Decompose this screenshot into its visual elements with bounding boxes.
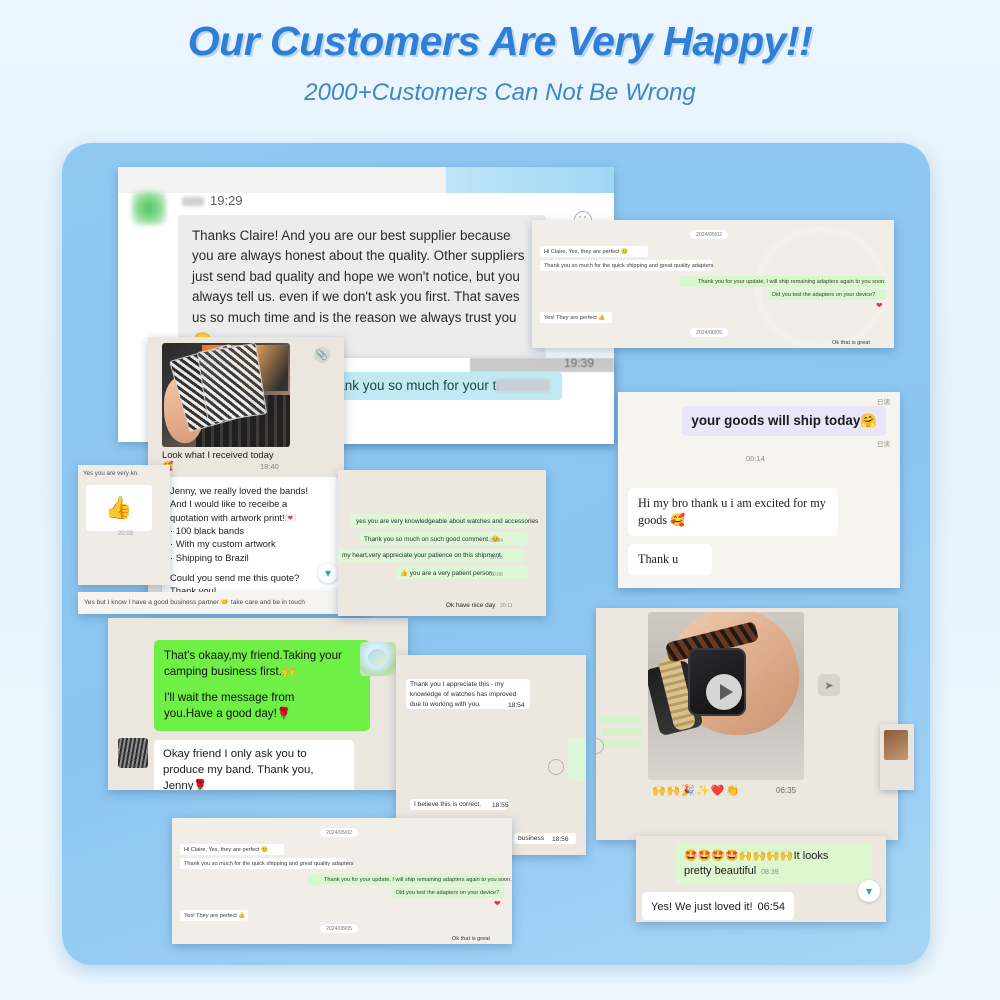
caption-time: 18:40 (260, 462, 279, 471)
testimonial-card-video[interactable]: ➤ 🙌🙌🎉✨❤️👏 06:35 (596, 608, 898, 840)
know-time: 20:05 (490, 555, 503, 561)
dup-line-0: Hi Claire, Yes, they are perfect 😊 (544, 249, 628, 255)
dup-line-0: Hi Claire, Yes, they are perfect 😊 (184, 847, 268, 853)
band-package-2 (197, 343, 268, 423)
dup-line-4: Yes! They are perfect 👍 (184, 913, 245, 919)
loved-it-time: 06:54 (758, 901, 786, 913)
thumbs-up-icon: 👍 (86, 485, 152, 531)
reply-2-text: Thank u (638, 551, 702, 568)
testimonial-card-beautiful[interactable]: 🤩🤩🤩🤩🙌🙌🙌🙌It looks pretty beautiful08:39 Y… (636, 836, 886, 922)
testimonial-card-goods[interactable]: 已读 your goods will ship today🤗 已读 00:14 … (618, 392, 900, 588)
dup-line-3: Did you test the adapters on your device… (396, 890, 499, 896)
side-message-bits (602, 716, 642, 768)
chat-date: 2024/05/02 (690, 230, 728, 239)
white-line-1: Okay friend I only ask you to (163, 747, 345, 763)
message-text: Thanks Claire! And you are our best supp… (192, 226, 532, 328)
thumbnail-image (884, 730, 908, 760)
forward-arrow-icon[interactable]: ➤ (818, 674, 840, 696)
testimonial-card-thumbsup[interactable]: Yes you are very kn 👍 20:03 (78, 465, 170, 585)
bullet-item: · 100 black bands (170, 524, 330, 537)
watermark-circle (754, 226, 888, 348)
rose-emoji: 🌹 (193, 780, 207, 790)
reply-1-text: Hi my bro thank u i am excited for my go… (638, 496, 826, 527)
loved-it-text: Yes! We just loved it! (651, 901, 753, 913)
improved-time: 18:54 (508, 702, 525, 709)
ship-today-text: your goods will ship today (691, 413, 860, 428)
photo-caption: Look what I received today (162, 449, 290, 460)
improved-line-1: knowledge of watches has improved (410, 691, 516, 698)
beautiful-text-2: pretty beautiful (684, 865, 756, 877)
chevron-down-icon[interactable]: ▾ (318, 563, 338, 583)
trust-bubble: thank you so much for your trust (316, 372, 562, 400)
card-top-strip: 19:39 (470, 358, 614, 372)
testimonial-card-edge[interactable] (880, 724, 914, 790)
redacted-block (496, 379, 550, 392)
improved-line-5: business (518, 835, 544, 842)
testimonial-card-adapters-bottom[interactable]: 2024/05/02 Hi Claire, Yes, they are perf… (172, 818, 512, 944)
beautiful-time: 08:39 (761, 869, 779, 876)
dup-line-3: Did you test the adapters on your device… (772, 292, 875, 298)
know-line-3: 👍 you are a very patient person. (400, 569, 494, 577)
dup-line-5: Ok that is great (452, 936, 490, 942)
dup-line-2: Thank you for your update, I will ship r… (324, 877, 512, 883)
quote-line-2: And I would like to receibe a (170, 497, 330, 510)
dup-line-1: Thank you so much for the quick shipping… (184, 861, 353, 867)
reply-bubble-2: Thank u (628, 544, 712, 575)
sender-name-redacted (182, 197, 204, 206)
header-blue-strip (446, 167, 614, 193)
bullet-item: · Shipping to Brazil (170, 551, 330, 564)
testimonial-card-photo[interactable]: 📎 Look what I received today 🥰 18:40 Jen… (148, 337, 344, 605)
promo-page: Our Customers Are Very Happy!! 2000+Cust… (0, 0, 1000, 1000)
quote-line-1: Jenny, we really loved the bands! (170, 484, 330, 497)
green-emoji: 🙌 (282, 665, 296, 678)
thumb-time: 20:03 (118, 531, 133, 537)
quote-request-bubble: Jenny, we really loved the bands! And I … (162, 477, 338, 605)
video-emoji-row: 🙌🙌🎉✨❤️👏 (652, 784, 740, 797)
message-time: 19:29 (210, 193, 243, 208)
dup-line-5: Ok that is great (832, 340, 870, 346)
dup-line-2: Thank you for your update, I will ship r… (698, 279, 886, 285)
white-line-3: Jenny🌹 (163, 779, 345, 790)
reply-bubble-1: Hi my bro thank u i am excited for my go… (628, 488, 838, 536)
improved-time: 18:55 (492, 802, 509, 809)
white-message-bubble: Okay friend I only ask you to produce my… (154, 740, 354, 790)
video-time: 06:35 (776, 786, 796, 795)
testimonial-card-adapters-top[interactable]: 2024/05/02 Hi Claire, Yes, they are perf… (532, 220, 894, 348)
know-time: 20:06 (490, 572, 503, 578)
page-header: Our Customers Are Very Happy!! 2000+Cust… (0, 0, 1000, 107)
rose-emoji: 🌹 (277, 707, 291, 720)
testimonial-card-green[interactable]: That's okaay,my friend.Taking your campi… (108, 618, 408, 790)
trust-text: thank you so much for your trust (326, 378, 519, 393)
know-line-4: Ok have nice day (446, 602, 495, 609)
know-time: 20:11 (500, 603, 513, 609)
avatar (132, 191, 166, 225)
white-line-2: produce my band. Thank you, (163, 763, 345, 779)
green-line-4: you.Have a good day!🌹 (164, 706, 360, 722)
page-subtitle: 2000+Customers Can Not Be Wrong (0, 79, 1000, 107)
celebration-emojis: 🤩🤩🤩🤩🙌🙌🙌🙌 (684, 850, 794, 862)
watch-video-thumbnail[interactable] (648, 612, 804, 780)
chevron-down-icon[interactable]: ▾ (858, 880, 880, 902)
bullet-item: · With my custom artwork (170, 537, 330, 550)
hug-emoji: 🤗 (860, 413, 877, 428)
chat-header-bar (118, 167, 614, 193)
play-button-icon[interactable] (706, 674, 742, 710)
green-line-1: That's okaay,my friend.Taking your (164, 648, 360, 664)
quote-line-3: quotation with artwork print!💌 (170, 511, 330, 524)
read-receipt: 已读 (877, 438, 890, 448)
heart-reaction-icon[interactable]: ❤ (876, 301, 883, 310)
smiling-emoji: 🥰 (670, 513, 685, 527)
testimonial-card-knowledge[interactable]: yes you are very knowledgeable about wat… (338, 470, 546, 616)
improved-line-0: Thank you I appreciate this - my (410, 681, 504, 688)
avatar (118, 738, 148, 768)
quote-closing-1: Could you send me this quote? (170, 571, 330, 584)
ship-today-bubble: your goods will ship today🤗 (682, 406, 886, 436)
chat-date: 2024/08/05 (320, 924, 358, 933)
beautiful-text-1: It looks (794, 850, 829, 862)
dup-line-1: Thank you so much for the quick shipping… (544, 263, 713, 269)
dup-line-4: Yes! They are perfect 👍 (544, 315, 605, 321)
received-bands-photo[interactable] (162, 343, 290, 447)
thumb-top-line: Yes you are very kn (83, 470, 137, 477)
green-line-2: camping business first.🙌 (164, 664, 360, 680)
green-bubble (568, 737, 586, 781)
time-divider: 00:14 (746, 454, 765, 463)
partner-line: Yes but I know I have a good business pa… (84, 598, 305, 606)
attachment-icon[interactable]: 📎 (314, 347, 330, 363)
loved-it-bubble: Yes! We just loved it!06:54 (642, 892, 794, 920)
green-message-bubble: That's okaay,my friend.Taking your campi… (154, 640, 370, 731)
trust-time: 19:39 (564, 358, 594, 370)
beautiful-green-bubble: 🤩🤩🤩🤩🙌🙌🙌🙌It looks pretty beautiful08:39 (676, 844, 872, 884)
improved-line-3: I believe this is correct. (414, 801, 481, 808)
quote-emoji: 💌 (285, 512, 297, 523)
page-title: Our Customers Are Very Happy!! (0, 0, 1000, 65)
read-receipt: 已读 (877, 396, 890, 406)
improved-line-2: due to working with you. (410, 701, 481, 708)
profile-circle-icon (548, 759, 564, 775)
improved-time: 18:56 (552, 836, 569, 843)
testimonial-card-partner[interactable]: Yes but I know I have a good business pa… (78, 592, 368, 614)
know-time: 20:04 (490, 538, 503, 544)
know-line-2: my heart,very appreciate your patience o… (342, 552, 503, 559)
chat-date: 2024/08/05 (690, 328, 728, 337)
know-line-1: Thank you so much on such good comment. … (364, 535, 499, 543)
cartoon-sticker (360, 642, 396, 676)
know-line-0: yes you are very knowledgeable about wat… (356, 518, 538, 525)
heart-reaction-icon[interactable]: ❤ (494, 899, 501, 908)
green-line-3: I'll wait the message from (164, 690, 360, 706)
quote-bullets: · 100 black bands · With my custom artwo… (170, 524, 330, 564)
chat-date: 2024/05/02 (320, 828, 358, 837)
